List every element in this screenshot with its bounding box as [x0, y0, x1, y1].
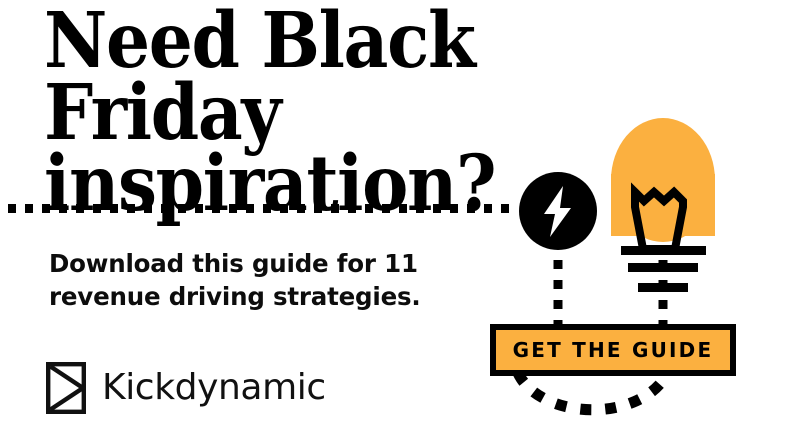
subhead-text: Download this guide for 11 revenue drivi… — [49, 248, 469, 313]
promo-banner: Need Black Friday inspiration? Download … — [0, 0, 785, 442]
lightbulb-icon — [611, 118, 715, 292]
lightning-bolt-icon — [519, 172, 597, 250]
brand-logo: Kickdynamic — [46, 362, 326, 414]
brand-wordmark: Kickdynamic — [102, 370, 326, 406]
illustration-group: GET THE GUIDE — [470, 110, 785, 442]
kickdynamic-logo-mark-icon — [46, 362, 86, 414]
dashed-divider — [8, 204, 516, 213]
connector-arc — [518, 371, 668, 410]
get-the-guide-button[interactable] — [493, 327, 733, 373]
